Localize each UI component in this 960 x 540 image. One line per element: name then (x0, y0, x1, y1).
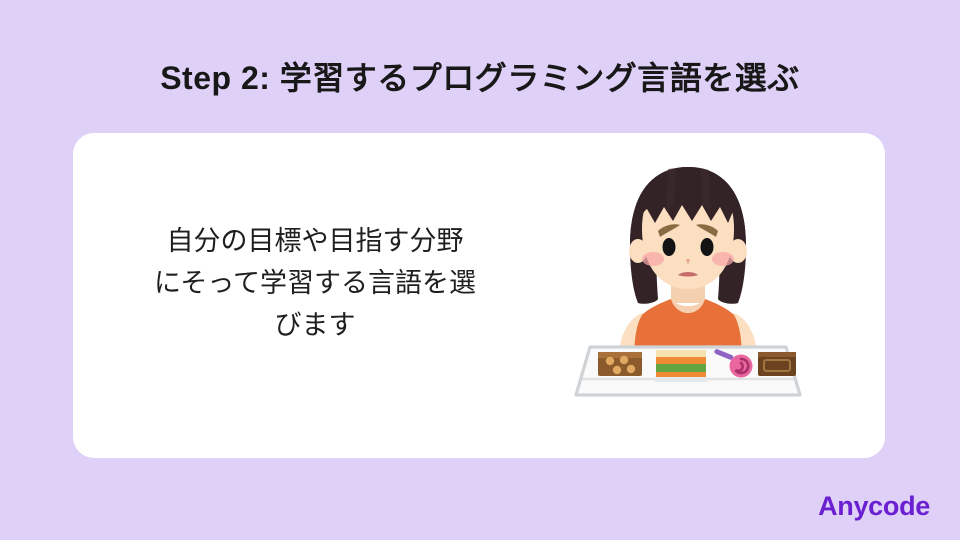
body-text-line-3: びます (115, 305, 515, 347)
content-card: 自分の目標や目指す分野 にそって学習する言語を選 びます (73, 133, 885, 458)
blush-right (712, 252, 734, 266)
hair-strand-right (701, 168, 710, 209)
tray-item-chocolate-bar (758, 352, 796, 376)
girl-choosing-sweets-illustration (568, 153, 808, 403)
blush-left (642, 252, 664, 266)
body-text-line-1: 自分の目標や目指す分野 (115, 221, 515, 263)
tray-item-layered-cake (654, 350, 708, 382)
page-title: Step 2: 学習するプログラミング言語を選ぶ (0, 58, 960, 98)
tray-item-chocolate-with-nuts (598, 352, 642, 376)
eye-right (701, 238, 714, 256)
anycode-logo: Anycode (818, 491, 930, 522)
body-text-block: 自分の目標や目指す分野 にそって学習する言語を選 びます (115, 221, 515, 347)
body-text-line-2: にそって学習する言語を選 (115, 263, 515, 305)
eye-left (663, 238, 676, 256)
